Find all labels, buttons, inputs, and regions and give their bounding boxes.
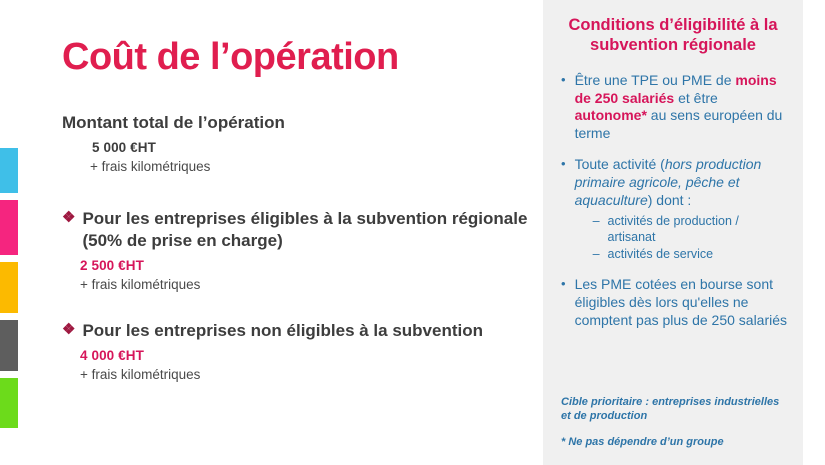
color-bar-pink [0,200,18,255]
eligibility-item-text: Être une TPE ou PME de moins de 250 sala… [575,72,788,144]
cost-block-non-eligible: ❖ Pour les entreprises non éligibles à l… [62,320,532,382]
cost-block-eligible: ❖ Pour les entreprises éligibles à la su… [62,208,532,292]
text-run: Les PME cotées en bourse sont éligibles … [575,276,787,328]
color-bar-strip [0,0,18,465]
eligibility-panel-title: Conditions d’éligibilité à la subvention… [558,16,788,56]
cost-amount: 2 500 €HT [62,258,532,273]
eligibility-sub-item-text: activités de production / artisanat [608,213,788,246]
cost-block-heading: Montant total de l’opération [62,112,532,134]
dash-bullet-icon: – [593,213,600,229]
left-content-column: Coût de l’opération Montant total de l’o… [62,0,532,465]
cost-block-heading-text: Montant total de l’opération [62,112,285,134]
cost-block-heading: ❖ Pour les entreprises éligibles à la su… [62,208,532,252]
text-run: Toute activité ( [575,156,665,172]
text-run: Être une TPE ou PME de [575,72,736,88]
color-bar-green [0,378,18,428]
eligibility-footnotes: Cible prioritaire : entreprises industri… [561,384,791,449]
cost-block-heading-text: Pour les entreprises non éligibles à la … [82,320,483,342]
text-run: ) dont : [648,192,692,208]
eligibility-item-text: Les PME cotées en bourse sont éligibles … [575,276,788,330]
cost-block-total: Montant total de l’opération 5 000 €HT +… [62,112,532,174]
diamond-bullet-icon: ❖ [62,208,75,228]
text-run: et être [674,90,718,106]
cost-block-heading: ❖ Pour les entreprises non éligibles à l… [62,320,532,342]
diamond-bullet-icon: ❖ [62,320,75,340]
eligibility-panel: Conditions d’éligibilité à la subvention… [543,0,803,465]
dash-bullet-icon: – [593,246,600,262]
eligibility-item-text: Toute activité (hors production primaire… [575,156,788,262]
color-bar-yellow [0,262,18,313]
cost-block-heading-text: Pour les entreprises éligibles à la subv… [82,208,532,252]
eligibility-item-pme-bourse: •Les PME cotées en bourse sont éligibles… [558,276,788,330]
eligibility-item-toute-activite: •Toute activité (hors production primair… [558,156,788,262]
eligibility-sub-item: –activités de service [593,246,788,262]
eligibility-sub-item: –activités de production / artisanat [593,213,788,246]
cost-note: + frais kilométriques [62,367,532,382]
footnote-2: * Ne pas dépendre d’un groupe [561,435,791,449]
round-bullet-icon: • [561,156,566,173]
cost-note: + frais kilométriques [62,277,532,292]
cost-amount: 4 000 €HT [62,348,532,363]
page-title: Coût de l’opération [62,38,399,78]
color-bar-gray [0,320,18,371]
round-bullet-icon: • [561,276,566,293]
eligibility-sub-item-text: activités de service [608,246,714,262]
cost-amount: 5 000 €HT [62,140,532,155]
eligibility-sub-list: –activités de production / artisanat–act… [575,213,788,263]
footnote-1: Cible prioritaire : entreprises industri… [561,395,791,424]
eligibility-condition-list: •Être une TPE ou PME de moins de 250 sal… [558,72,788,330]
round-bullet-icon: • [561,72,566,89]
color-bar-cyan [0,148,18,193]
text-run: autonome* [575,107,647,123]
slide-root: Coût de l’opération Montant total de l’o… [0,0,825,465]
eligibility-item-tpe-pme: •Être une TPE ou PME de moins de 250 sal… [558,72,788,144]
cost-note: + frais kilométriques [62,159,532,174]
